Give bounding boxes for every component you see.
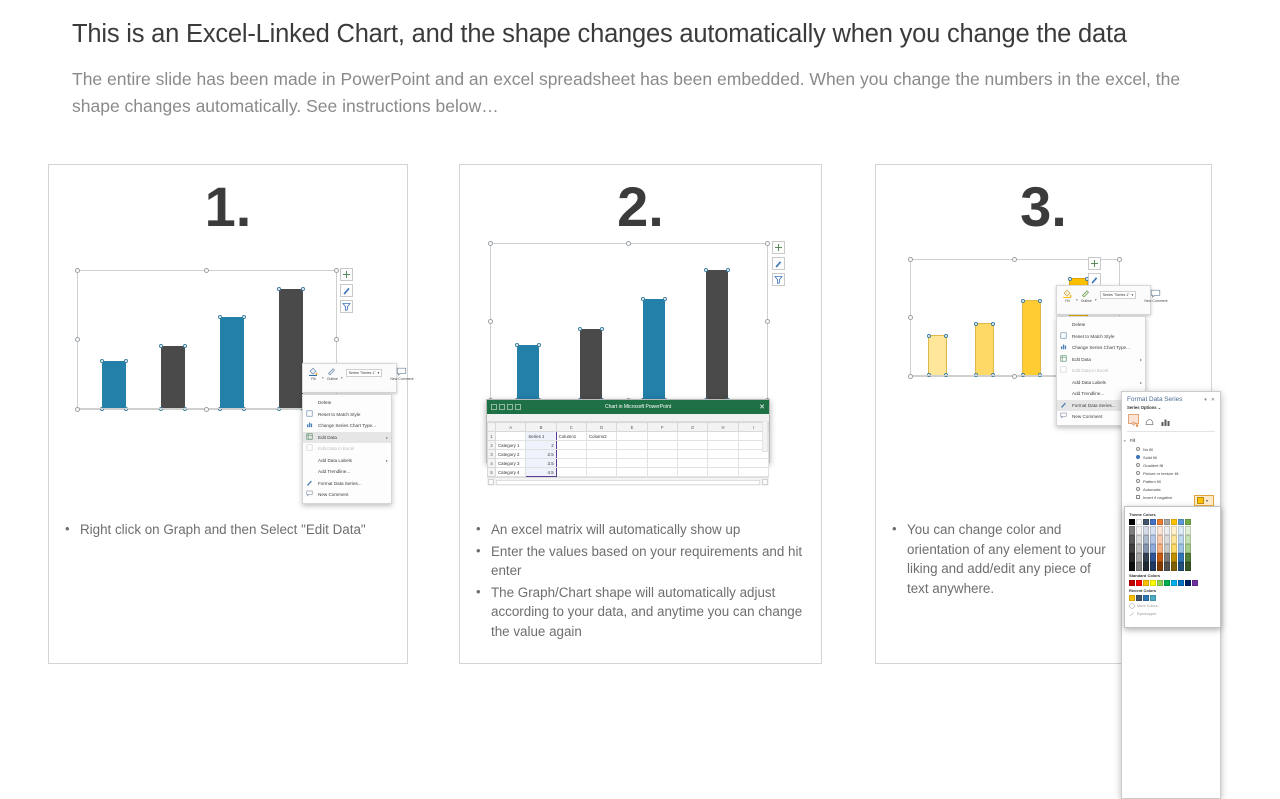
- resize-handle[interactable]: [204, 407, 209, 412]
- redo-icon[interactable]: [507, 404, 513, 410]
- format-pane-header: Format Data Series ▾ ✕: [1122, 392, 1220, 404]
- table-cell[interactable]: [617, 468, 647, 477]
- color-swatch[interactable]: [1150, 553, 1156, 562]
- color-swatch[interactable]: [1157, 519, 1163, 525]
- table-cell[interactable]: [496, 432, 526, 441]
- context-menu-item-label: Reset to Match Style: [318, 412, 360, 417]
- radio-button[interactable]: [1136, 487, 1140, 491]
- excel-horizontal-scrollbar[interactable]: [487, 477, 769, 486]
- table-cell[interactable]: [677, 468, 707, 477]
- bar-category-2[interactable]: [580, 329, 602, 400]
- resize-handle[interactable]: [488, 319, 493, 324]
- table-cell[interactable]: [586, 441, 616, 450]
- column-header[interactable]: G: [677, 423, 707, 432]
- table-row[interactable]: 3Category 22.5: [488, 450, 769, 459]
- context-menu-item[interactable]: Add Data Labels▸: [303, 455, 391, 467]
- context-menu-item-label: Format Data Series...: [318, 481, 362, 486]
- fill-option-row[interactable]: Automatic: [1122, 485, 1220, 493]
- context-menu-item[interactable]: Add Trendline...: [303, 466, 391, 478]
- close-icon[interactable]: ✕: [1211, 397, 1215, 403]
- color-swatch[interactable]: [1171, 580, 1177, 586]
- row-header[interactable]: 3: [488, 450, 496, 459]
- table-cell[interactable]: [647, 441, 677, 450]
- table-cell[interactable]: [556, 441, 586, 450]
- table-cell[interactable]: Category 2: [496, 450, 526, 459]
- color-swatch[interactable]: [1185, 562, 1191, 571]
- color-swatch[interactable]: [1150, 580, 1156, 586]
- color-swatch[interactable]: [1157, 535, 1163, 544]
- submenu-arrow-icon: ▸: [1140, 357, 1142, 362]
- none: [1060, 320, 1069, 329]
- table-cell[interactable]: [708, 459, 738, 468]
- fill-bucket-icon: [308, 367, 319, 376]
- color-swatch[interactable]: [1136, 544, 1142, 553]
- checkbox[interactable]: [1136, 495, 1140, 499]
- color-swatch[interactable]: [1150, 595, 1156, 601]
- chart-object-1[interactable]: [77, 270, 337, 410]
- table-row[interactable]: 4Category 33.5: [488, 459, 769, 468]
- color-swatch[interactable]: [1171, 519, 1177, 525]
- radio-button[interactable]: [1136, 479, 1140, 483]
- table-cell[interactable]: [617, 459, 647, 468]
- bar-category-1[interactable]: [928, 335, 947, 376]
- eyedropper-item[interactable]: Eyedropper: [1129, 611, 1216, 617]
- table-cell[interactable]: [708, 432, 738, 441]
- color-swatch[interactable]: [1129, 562, 1135, 571]
- expand-triangle-icon[interactable]: ▾: [1124, 439, 1126, 443]
- step-number-2: 2.: [460, 179, 821, 235]
- color-swatch[interactable]: [1157, 544, 1163, 553]
- current-color-swatch: [1197, 497, 1204, 504]
- context-menu-item-label: Change Series Chart Type...: [1072, 345, 1130, 350]
- context-menu-item[interactable]: Edit Data▸: [303, 432, 391, 444]
- bar-category-1[interactable]: [102, 361, 126, 409]
- fill-heading-text: Fill: [1130, 438, 1135, 443]
- chevron-down-icon[interactable]: ▾: [378, 371, 380, 375]
- column-header[interactable]: A: [496, 423, 526, 432]
- outline-caret-icon[interactable]: ▾: [341, 376, 343, 380]
- context-menu-item[interactable]: Add Data Labels▸: [1057, 377, 1145, 389]
- comment-icon: [306, 490, 315, 499]
- context-menu-item[interactable]: Format Data Series...: [303, 478, 391, 490]
- resize-handle[interactable]: [765, 319, 770, 324]
- mini-toolbar-3[interactable]: Fill ▾ Outline ▾ Series "Series 1" ▾ New…: [1056, 285, 1151, 315]
- outline-button[interactable]: Outline: [325, 366, 340, 382]
- context-menu-item[interactable]: Delete: [1057, 319, 1145, 331]
- scroll-left-icon[interactable]: [488, 479, 494, 485]
- context-menu-item[interactable]: Change Series Chart Type...: [1057, 342, 1145, 354]
- table-cell[interactable]: [677, 450, 707, 459]
- color-swatch[interactable]: [1136, 562, 1142, 571]
- color-swatch[interactable]: [1164, 519, 1170, 525]
- row-header[interactable]: 5: [488, 468, 496, 477]
- table-cell[interactable]: [647, 450, 677, 459]
- resize-handle[interactable]: [75, 407, 80, 412]
- bullet-item: You can change color and orientation of …: [890, 520, 1115, 598]
- table-cell[interactable]: Column1: [556, 432, 586, 441]
- step-panel-1: 1.: [48, 164, 408, 664]
- color-swatch[interactable]: [1164, 553, 1170, 562]
- context-menu-item: Edit Data in Excel: [1057, 365, 1145, 377]
- table-cell[interactable]: Category 1: [496, 441, 526, 450]
- fill-option-label: No fill: [1143, 447, 1153, 452]
- color-swatch[interactable]: [1129, 519, 1135, 525]
- resize-handle[interactable]: [626, 241, 631, 246]
- chevron-down-icon[interactable]: ▾: [1132, 293, 1134, 297]
- step-number-3: 3.: [876, 179, 1211, 235]
- table-cell[interactable]: 3.5: [526, 459, 556, 468]
- resize-handle[interactable]: [1012, 374, 1017, 379]
- fill-bucket-icon: [1062, 289, 1073, 298]
- color-swatch[interactable]: [1136, 595, 1142, 601]
- chart-elements-icon[interactable]: [1088, 257, 1101, 270]
- color-swatch[interactable]: [1150, 535, 1156, 544]
- chart-object-2[interactable]: [490, 243, 768, 401]
- select-all-corner[interactable]: [488, 423, 496, 432]
- resize-handle[interactable]: [908, 315, 913, 320]
- color-swatch[interactable]: [1185, 526, 1191, 535]
- resize-handle[interactable]: [908, 374, 913, 379]
- color-swatch[interactable]: [1143, 519, 1149, 525]
- resize-handle[interactable]: [1117, 257, 1122, 262]
- color-swatch[interactable]: [1185, 544, 1191, 553]
- column-header[interactable]: B: [526, 423, 556, 432]
- table-cell[interactable]: [708, 441, 738, 450]
- theme-colors-label: Theme Colors: [1129, 512, 1216, 517]
- table-cell[interactable]: [617, 432, 647, 441]
- resize-handle[interactable]: [334, 337, 339, 342]
- table-row[interactable]: 2Category 12: [488, 441, 769, 450]
- color-swatch[interactable]: [1136, 553, 1142, 562]
- color-swatch[interactable]: [1164, 526, 1170, 535]
- save-icon[interactable]: [491, 404, 497, 410]
- fill-section-heading[interactable]: ▾ Fill: [1122, 435, 1220, 445]
- column-header[interactable]: D: [586, 423, 616, 432]
- fill-color-button[interactable]: ▾: [1194, 495, 1214, 506]
- bar-category-3[interactable]: [1022, 300, 1041, 376]
- resize-handle[interactable]: [204, 268, 209, 273]
- context-menu-item-label: Format Data Series...: [1072, 403, 1116, 408]
- bar-category-1[interactable]: [517, 345, 539, 400]
- context-menu-item-label: Delete: [318, 400, 331, 405]
- series-options-text: Series Options: [1127, 405, 1157, 410]
- color-picker-popup[interactable]: Theme Colors Standard Colors Recent Colo…: [1124, 506, 1221, 628]
- chart-side-buttons-2: [772, 241, 785, 286]
- edit-data-icon: [306, 433, 315, 442]
- collapse-icon[interactable]: ▾: [1204, 397, 1207, 403]
- table-cell[interactable]: [647, 432, 677, 441]
- table-cell[interactable]: [586, 459, 616, 468]
- fill-option-row[interactable]: Solid fill: [1122, 453, 1220, 461]
- recent-colors-label: Recent Colors: [1129, 588, 1216, 593]
- step-panel-3: 3.: [875, 164, 1212, 664]
- color-swatch[interactable]: [1136, 535, 1142, 544]
- color-swatch[interactable]: [1164, 580, 1170, 586]
- chevron-down-icon[interactable]: ▾: [1206, 498, 1208, 503]
- none: [306, 398, 315, 407]
- resize-handle[interactable]: [908, 257, 913, 262]
- format-pane-title: Format Data Series: [1127, 396, 1200, 403]
- context-menu-item[interactable]: Reset to Match Style: [1057, 331, 1145, 343]
- submenu-arrow-icon: ▸: [386, 435, 388, 440]
- color-swatch[interactable]: [1143, 595, 1149, 601]
- series-options-icon[interactable]: [1160, 414, 1171, 424]
- context-menu-item-label: New Comment: [1072, 414, 1102, 419]
- outline-caret-icon[interactable]: ▾: [1095, 298, 1097, 302]
- column-header[interactable]: E: [617, 423, 647, 432]
- color-swatch[interactable]: [1164, 544, 1170, 553]
- table-cell[interactable]: [556, 450, 586, 459]
- series-selector-combo[interactable]: Series "Series 1" ▾: [1100, 291, 1137, 299]
- table-cell[interactable]: [708, 468, 738, 477]
- series-selector-value: Series "Series 1": [1103, 293, 1130, 297]
- chevron-down-icon[interactable]: ⌄: [1158, 405, 1162, 410]
- color-swatch[interactable]: [1129, 526, 1135, 535]
- step-panel-2: 2.: [459, 164, 822, 664]
- bullet-item: Right click on Graph and then Select "Ed…: [63, 520, 393, 540]
- swatch-row: [1129, 562, 1216, 571]
- table-cell[interactable]: [677, 432, 707, 441]
- new-comment-label: New Comment: [390, 377, 413, 381]
- new-comment-button[interactable]: New Comment: [388, 366, 415, 382]
- table-cell[interactable]: Series 1: [526, 432, 556, 441]
- fill-label: Fill: [1065, 299, 1069, 303]
- context-menu-item-label: Edit Data in Excel: [1072, 368, 1108, 373]
- bullet-item: The Graph/Chart shape will automatically…: [474, 583, 809, 642]
- bar-category-2[interactable]: [161, 346, 185, 409]
- color-swatch[interactable]: [1171, 526, 1177, 535]
- series-selector-combo[interactable]: Series "Series 1" ▾: [346, 369, 383, 377]
- color-swatch[interactable]: [1129, 553, 1135, 562]
- color-swatch[interactable]: [1185, 553, 1191, 562]
- color-swatch[interactable]: [1143, 526, 1149, 535]
- series-selector-value: Series "Series 1": [349, 371, 376, 375]
- chart-elements-icon[interactable]: [340, 268, 353, 281]
- excel-quick-access-toolbar[interactable]: [491, 404, 521, 410]
- resize-handle[interactable]: [1012, 257, 1017, 262]
- chart-styles-icon[interactable]: [772, 257, 785, 270]
- resize-handle[interactable]: [488, 241, 493, 246]
- fill-option-row[interactable]: Pattern fill: [1122, 477, 1220, 485]
- context-menu-item[interactable]: Delete: [303, 397, 391, 409]
- table-row[interactable]: 5Category 44.5: [488, 468, 769, 477]
- fill-caret-icon[interactable]: ▾: [322, 376, 324, 380]
- outline-button[interactable]: Outline: [1079, 288, 1094, 304]
- radio-button[interactable]: [1136, 463, 1140, 467]
- color-swatch[interactable]: [1143, 553, 1149, 562]
- table-cell[interactable]: [738, 468, 768, 477]
- excel-vertical-scrollbar[interactable]: [762, 421, 768, 452]
- table-row[interactable]: 1Series 1Column1Column2: [488, 432, 769, 441]
- color-swatch[interactable]: [1143, 580, 1149, 586]
- color-swatch[interactable]: [1164, 562, 1170, 571]
- context-menu-item[interactable]: Edit Data▸: [1057, 354, 1145, 366]
- fill-option-row[interactable]: No fill: [1122, 445, 1220, 453]
- table-cell[interactable]: Category 3: [496, 459, 526, 468]
- color-swatch[interactable]: [1150, 519, 1156, 525]
- table-cell[interactable]: [556, 468, 586, 477]
- effects-icon[interactable]: [1144, 414, 1155, 424]
- table-cell[interactable]: 4.5: [526, 468, 556, 477]
- chart-type-icon: [306, 421, 315, 430]
- color-swatch[interactable]: [1129, 544, 1135, 553]
- excel-window-title: Chart in Microsoft PowerPoint: [521, 404, 755, 410]
- resize-handle[interactable]: [765, 241, 770, 246]
- color-swatch[interactable]: [1143, 544, 1149, 553]
- more-colors-item[interactable]: More Colors...: [1129, 603, 1216, 609]
- theme-colors-grid[interactable]: [1129, 519, 1216, 571]
- color-swatch[interactable]: [1150, 526, 1156, 535]
- color-swatch[interactable]: [1192, 580, 1198, 586]
- table-cell[interactable]: Category 4: [496, 468, 526, 477]
- outline-label: Outline: [327, 377, 338, 381]
- context-menu-item-label: Edit Data: [1072, 357, 1091, 362]
- bar-category-3[interactable]: [643, 299, 665, 400]
- new-comment-button[interactable]: New Comment: [1142, 288, 1169, 304]
- excel-window[interactable]: Chart in Microsoft PowerPoint ✕ ABCDEFGH…: [486, 399, 770, 463]
- table-cell[interactable]: 2.5: [526, 450, 556, 459]
- color-swatch[interactable]: [1171, 535, 1177, 544]
- comment-icon: [396, 367, 407, 376]
- table-cell[interactable]: [677, 459, 707, 468]
- resize-handle[interactable]: [75, 268, 80, 273]
- scroll-thumb[interactable]: [496, 480, 760, 485]
- color-swatch[interactable]: [1171, 562, 1177, 571]
- table-cell[interactable]: 2: [526, 441, 556, 450]
- context-menu-item-label: Delete: [1072, 322, 1085, 327]
- color-swatch[interactable]: [1150, 544, 1156, 553]
- fill-button[interactable]: Fill: [306, 366, 321, 382]
- panel-2-bullets: An excel matrix will automatically show …: [474, 520, 809, 643]
- fill-and-line-icon[interactable]: [1128, 414, 1139, 424]
- color-swatch[interactable]: [1157, 553, 1163, 562]
- color-swatch[interactable]: [1185, 535, 1191, 544]
- color-swatch[interactable]: [1143, 562, 1149, 571]
- bullet-item: Enter the values based on your requireme…: [474, 542, 809, 581]
- reset-icon: [306, 410, 315, 419]
- context-menu-1[interactable]: DeleteReset to Match StyleChange Series …: [302, 394, 392, 504]
- color-swatch[interactable]: [1129, 535, 1135, 544]
- context-menu-item[interactable]: Change Series Chart Type...: [303, 420, 391, 432]
- color-swatch[interactable]: [1150, 562, 1156, 571]
- excel-grid[interactable]: ABCDEFGHI 1Series 1Column1Column22Catego…: [487, 422, 769, 477]
- excel-sheet[interactable]: ABCDEFGHI 1Series 1Column1Column22Catego…: [487, 422, 769, 477]
- table-cell[interactable]: [586, 450, 616, 459]
- table-cell[interactable]: [647, 459, 677, 468]
- color-swatch[interactable]: [1164, 535, 1170, 544]
- submenu-arrow-icon: ▸: [386, 458, 388, 463]
- radio-button[interactable]: [1136, 471, 1140, 475]
- color-swatch[interactable]: [1171, 553, 1177, 562]
- chart-filters-icon[interactable]: [340, 300, 353, 313]
- bar-category-4[interactable]: [706, 270, 728, 400]
- table-cell[interactable]: [617, 450, 647, 459]
- undo-icon[interactable]: [499, 404, 505, 410]
- color-swatch[interactable]: [1157, 580, 1163, 586]
- radio-button[interactable]: [1136, 455, 1140, 459]
- chart-filters-icon[interactable]: [772, 273, 785, 286]
- fill-option-label: Automatic: [1143, 487, 1161, 492]
- chart-plot-area-1: [78, 271, 336, 409]
- new-comment-label: New Comment: [1144, 299, 1167, 303]
- column-header[interactable]: H: [708, 423, 738, 432]
- mini-toolbar-1[interactable]: Fill ▾ Outline ▾ Series "Series 1" ▾ New…: [302, 363, 397, 393]
- none: [306, 456, 315, 465]
- table-cell[interactable]: [708, 450, 738, 459]
- excel-icon[interactable]: [515, 404, 521, 410]
- color-swatch[interactable]: [1129, 595, 1135, 601]
- color-swatch[interactable]: [1185, 519, 1191, 525]
- table-cell[interactable]: [647, 468, 677, 477]
- radio-button[interactable]: [1136, 447, 1140, 451]
- excel-title-bar[interactable]: Chart in Microsoft PowerPoint ✕: [487, 400, 769, 414]
- color-swatch[interactable]: [1157, 526, 1163, 535]
- resize-handle[interactable]: [75, 337, 80, 342]
- chart-plot-area-2: [491, 244, 767, 400]
- row-header[interactable]: 1: [488, 432, 496, 441]
- table-cell[interactable]: [617, 441, 647, 450]
- color-swatch[interactable]: [1178, 535, 1184, 544]
- row-header[interactable]: 4: [488, 459, 496, 468]
- color-swatch[interactable]: [1143, 535, 1149, 544]
- table-cell[interactable]: [586, 468, 616, 477]
- table-cell[interactable]: [556, 459, 586, 468]
- color-swatch[interactable]: [1136, 526, 1142, 535]
- close-icon[interactable]: ✕: [755, 404, 765, 411]
- fill-option-label: Pattern fill: [1143, 479, 1161, 484]
- bar-category-3[interactable]: [220, 317, 244, 409]
- none: [1060, 378, 1069, 387]
- color-swatch[interactable]: [1178, 519, 1184, 525]
- color-swatch[interactable]: [1136, 519, 1142, 525]
- color-swatch[interactable]: [1157, 562, 1163, 571]
- none: [306, 467, 315, 476]
- color-swatch[interactable]: [1178, 580, 1184, 586]
- fill-caret-icon[interactable]: ▾: [1076, 298, 1078, 302]
- color-swatch[interactable]: [1178, 526, 1184, 535]
- resize-handle[interactable]: [334, 268, 339, 273]
- bar-category-2[interactable]: [975, 323, 994, 376]
- color-swatch[interactable]: [1178, 544, 1184, 553]
- context-menu-item[interactable]: Reset to Match Style: [303, 409, 391, 421]
- series-options-label[interactable]: Series Options ⌄: [1122, 404, 1220, 413]
- chart-elements-icon[interactable]: [772, 241, 785, 254]
- format-icon: [306, 479, 315, 488]
- column-header[interactable]: F: [647, 423, 677, 432]
- color-swatch[interactable]: [1136, 580, 1142, 586]
- table-cell[interactable]: Column2: [586, 432, 616, 441]
- fill-button[interactable]: Fill: [1060, 288, 1075, 304]
- table-cell[interactable]: [677, 441, 707, 450]
- outline-label: Outline: [1081, 299, 1092, 303]
- chart-side-buttons-1: [340, 268, 353, 313]
- fill-option-row[interactable]: Picture or texture fill: [1122, 469, 1220, 477]
- bar-category-4[interactable]: [279, 289, 303, 409]
- scroll-right-icon[interactable]: [762, 479, 768, 485]
- row-header[interactable]: 2: [488, 441, 496, 450]
- color-swatch[interactable]: [1129, 580, 1135, 586]
- fill-option-row[interactable]: Gradient fill: [1122, 461, 1220, 469]
- color-swatch[interactable]: [1178, 553, 1184, 562]
- divider: [1127, 431, 1215, 432]
- context-menu-item[interactable]: New Comment: [303, 489, 391, 501]
- table-cell[interactable]: [738, 459, 768, 468]
- column-header[interactable]: C: [556, 423, 586, 432]
- color-swatch[interactable]: [1171, 544, 1177, 553]
- color-swatch[interactable]: [1178, 562, 1184, 571]
- color-swatch[interactable]: [1185, 580, 1191, 586]
- chart-styles-icon[interactable]: [340, 284, 353, 297]
